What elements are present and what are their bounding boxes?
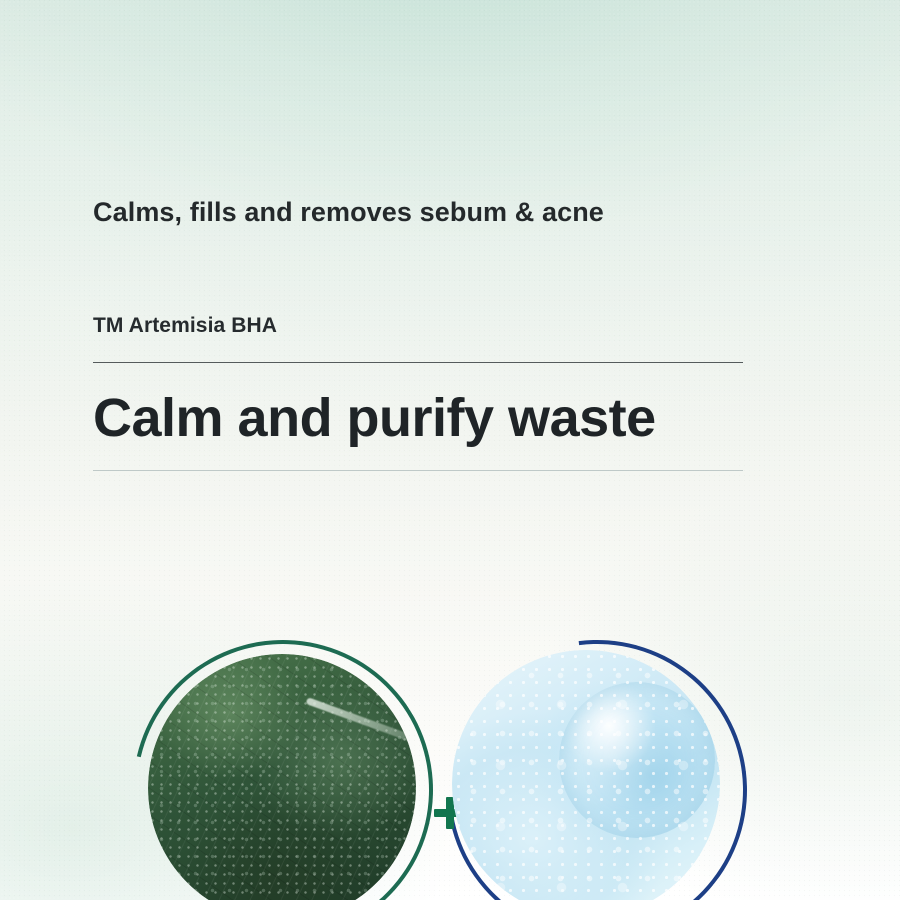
banner-subheadline: Calms, fills and removes sebum & acne bbox=[93, 196, 753, 228]
artemisia-leaf-photo bbox=[148, 654, 416, 900]
product-banner: Calms, fills and removes sebum & acne TM… bbox=[0, 0, 900, 900]
leaf-droplets-overlay bbox=[148, 654, 416, 900]
water-bubbles-overlay bbox=[452, 650, 720, 900]
banner-text-block: Calms, fills and removes sebum & acne TM… bbox=[93, 196, 753, 471]
divider-rule-top bbox=[93, 362, 743, 363]
divider-rule-bottom bbox=[93, 470, 743, 471]
banner-headline: Calm and purify waste bbox=[93, 363, 753, 447]
water-droplet-photo bbox=[452, 650, 720, 900]
ingredient-imagery bbox=[0, 640, 900, 900]
product-line-label: TM Artemisia BHA bbox=[93, 228, 753, 338]
